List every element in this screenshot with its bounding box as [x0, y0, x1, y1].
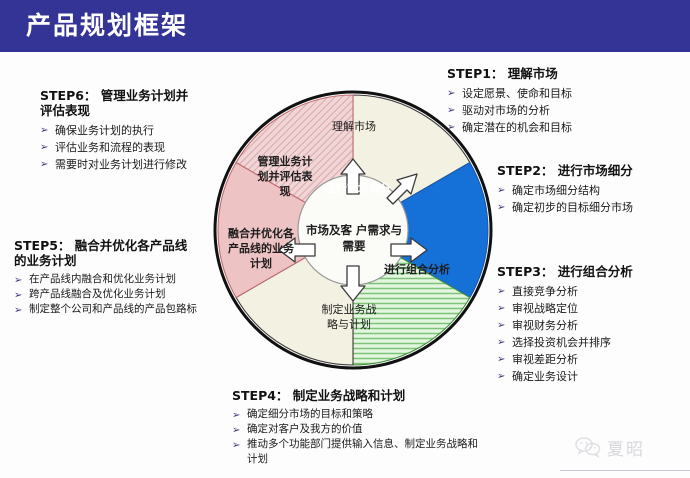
list-item-text: 直接竞争分析	[512, 285, 578, 298]
list-item: ➢在产品线内融合和优化业务计划	[14, 272, 224, 287]
step-1-bullet-list: ➢设定愿景、使命和目标 ➢驱动对市场的分析 ➢确定潜在的机会和目标	[447, 85, 682, 136]
bullet-arrow-icon: ➢	[14, 302, 22, 319]
list-item-text: 确保业务计划的执行	[55, 124, 154, 137]
bullet-arrow-icon: ➢	[40, 122, 48, 139]
step-4-bullet-list: ➢确定细分市场的目标和策略 ➢确定对客户及我方的价值 ➢推动多个功能部门提供输入…	[232, 407, 482, 467]
watermark-text: 夏昭	[607, 435, 645, 460]
step-block-1: STEP1： 理解市场 ➢设定愿景、使命和目标 ➢驱动对市场的分析 ➢确定潜在的…	[447, 66, 682, 136]
bullet-arrow-icon: ➢	[497, 351, 505, 368]
list-item-text: 审视差距分析	[512, 353, 578, 366]
list-item: ➢审视财务分析	[497, 317, 687, 334]
list-item: ➢确定业务设计	[497, 368, 687, 385]
bullet-arrow-icon: ➢	[497, 368, 505, 385]
list-item: ➢推动多个功能部门提供输入信息、制定业务战略和计划	[232, 437, 482, 467]
list-item: ➢驱动对市场的分析	[447, 102, 682, 119]
list-item-text: 评估业务和流程的表现	[55, 141, 165, 154]
step-5-bullet-list: ➢在产品线内融合和优化业务计划 ➢跨产品线融合及优化业务计划 ➢制定整个公司和产…	[14, 272, 224, 317]
list-item: ➢确保业务计划的执行	[40, 122, 245, 139]
list-item-text: 设定愿景、使命和目标	[462, 87, 572, 100]
bullet-arrow-icon: ➢	[497, 283, 505, 300]
watermark: 夏昭	[575, 432, 680, 462]
step-block-3: STEP3： 进行组合分析 ➢直接竞争分析 ➢审视战略定位 ➢审视财务分析 ➢选…	[497, 264, 687, 385]
list-item: ➢选择投资机会并排序	[497, 334, 687, 351]
bullet-arrow-icon: ➢	[232, 437, 240, 454]
slide-title-bar: 产品规划框架	[0, 0, 690, 52]
step-block-6: STEP6： 管理业务计划并 评估表现 ➢确保业务计划的执行 ➢评估业务和流程的…	[40, 88, 245, 173]
list-item: ➢制定整个公司和产品线的产品包路标	[14, 302, 224, 317]
list-item: ➢评估业务和流程的表现	[40, 139, 245, 156]
list-item-text: 推动多个功能部门提供输入信息、制定业务战略和计划	[247, 438, 478, 465]
list-item-text: 在产品线内融合和优化业务计划	[29, 273, 176, 285]
list-item-text: 选择投资机会并排序	[512, 336, 611, 349]
list-item: ➢确定细分市场的目标和策略	[232, 407, 482, 422]
bullet-arrow-icon: ➢	[497, 300, 505, 317]
bullet-arrow-icon: ➢	[447, 119, 455, 136]
footer-divider	[560, 470, 690, 471]
list-item: ➢确定初步的目标细分市场	[497, 199, 687, 216]
slide-canvas: 产品规划框架	[0, 0, 690, 478]
step-3-heading: STEP3： 进行组合分析	[497, 264, 687, 279]
step-5-heading: STEP5： 融合并优化各产品线 的业务计划	[14, 238, 224, 268]
bullet-arrow-icon: ➢	[497, 199, 505, 216]
list-item: ➢直接竞争分析	[497, 283, 687, 300]
bullet-arrow-icon: ➢	[497, 334, 505, 351]
step-2-heading: STEP2： 进行市场细分	[497, 163, 687, 178]
list-item-text: 确定潜在的机会和目标	[462, 121, 572, 134]
page-title: 产品规划框架	[26, 6, 188, 42]
list-item-text: 确定业务设计	[512, 370, 578, 383]
list-item: ➢审视战略定位	[497, 300, 687, 317]
list-item-text: 确定细分市场的目标和策略	[247, 408, 373, 420]
list-item-text: 确定市场细分结构	[512, 184, 600, 197]
list-item: ➢确定对客户及我方的价值	[232, 422, 482, 437]
list-item-text: 驱动对市场的分析	[462, 104, 550, 117]
list-item: ➢确定市场细分结构	[497, 182, 687, 199]
step-3-bullet-list: ➢直接竞争分析 ➢审视战略定位 ➢审视财务分析 ➢选择投资机会并排序 ➢审视差距…	[497, 283, 687, 385]
list-item-text: 审视财务分析	[512, 319, 578, 332]
step-block-4: STEP4： 制定业务战略和计划 ➢确定细分市场的目标和策略 ➢确定对客户及我方…	[232, 388, 482, 467]
list-item-text: 审视战略定位	[512, 302, 578, 315]
list-item-text: 确定对客户及我方的价值	[247, 423, 363, 435]
bullet-arrow-icon: ➢	[497, 317, 505, 334]
step-6-heading: STEP6： 管理业务计划并 评估表现	[40, 88, 245, 118]
wechat-icon	[575, 436, 601, 458]
list-item-text: 需要时对业务计划进行修改	[55, 158, 187, 171]
bullet-arrow-icon: ➢	[40, 156, 48, 173]
bullet-arrow-icon: ➢	[497, 182, 505, 199]
list-item-text: 跨产品线融合及优化业务计划	[29, 288, 166, 300]
bullet-arrow-icon: ➢	[447, 102, 455, 119]
step-2-bullet-list: ➢确定市场细分结构 ➢确定初步的目标细分市场	[497, 182, 687, 216]
list-item: ➢审视差距分析	[497, 351, 687, 368]
list-item: ➢跨产品线融合及优化业务计划	[14, 287, 224, 302]
step-6-bullet-list: ➢确保业务计划的执行 ➢评估业务和流程的表现 ➢需要时对业务计划进行修改	[40, 122, 245, 173]
step-1-heading: STEP1： 理解市场	[447, 66, 682, 81]
step-block-5: STEP5： 融合并优化各产品线 的业务计划 ➢在产品线内融合和优化业务计划 ➢…	[14, 238, 224, 317]
list-item: ➢确定潜在的机会和目标	[447, 119, 682, 136]
list-item-text: 确定初步的目标细分市场	[512, 201, 633, 214]
list-item: ➢设定愿景、使命和目标	[447, 85, 682, 102]
bullet-arrow-icon: ➢	[40, 139, 48, 156]
bullet-arrow-icon: ➢	[447, 85, 455, 102]
list-item: ➢需要时对业务计划进行修改	[40, 156, 245, 173]
step-block-2: STEP2： 进行市场细分 ➢确定市场细分结构 ➢确定初步的目标细分市场	[497, 163, 687, 216]
list-item-text: 制定整个公司和产品线的产品包路标	[29, 303, 197, 315]
step-4-heading: STEP4： 制定业务战略和计划	[232, 388, 482, 403]
